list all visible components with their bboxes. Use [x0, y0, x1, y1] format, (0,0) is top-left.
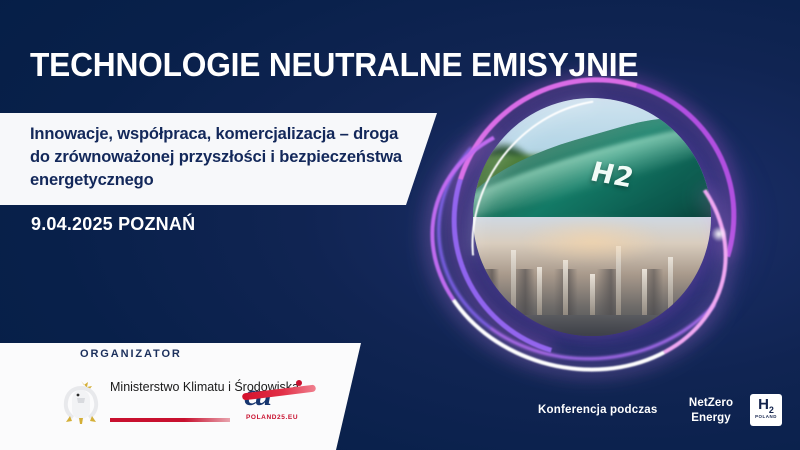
- subtitle-text: Innowacje, współpraca, komercjalizacja –…: [30, 123, 420, 191]
- h2-poland-logo: H2 POLAND: [750, 394, 782, 426]
- glow-spark: [711, 226, 727, 242]
- poland25-dot: [296, 380, 302, 386]
- netzero-energy-logo: NetZero Energy: [680, 396, 742, 426]
- h2-mark: H2: [750, 397, 782, 415]
- event-date-location: 9.04.2025 POZNAŃ: [31, 214, 195, 235]
- polish-eagle-icon: [58, 376, 104, 426]
- ministry-underline: [110, 418, 230, 422]
- poster-canvas: H2 TECHNOLOGIE NEUTRALNE EMISYJNIE Innow…: [0, 0, 800, 450]
- h2-poland-caption: POLAND: [750, 414, 782, 419]
- ministry-logo: Ministerstwo Klimatu i Środowiska: [58, 376, 233, 428]
- poland25-presidency-logo: eu POLAND25.EU: [240, 378, 322, 428]
- poland25-caption: POLAND25.EU: [246, 414, 298, 421]
- h2-letter: H: [758, 396, 769, 413]
- page-title: TECHNOLOGIE NEUTRALNE EMISYJNIE: [30, 48, 638, 81]
- partner-label: Konferencja podczas: [538, 404, 657, 416]
- organizer-label: ORGANIZATOR: [80, 348, 182, 360]
- hero-graphic: H2: [473, 98, 711, 336]
